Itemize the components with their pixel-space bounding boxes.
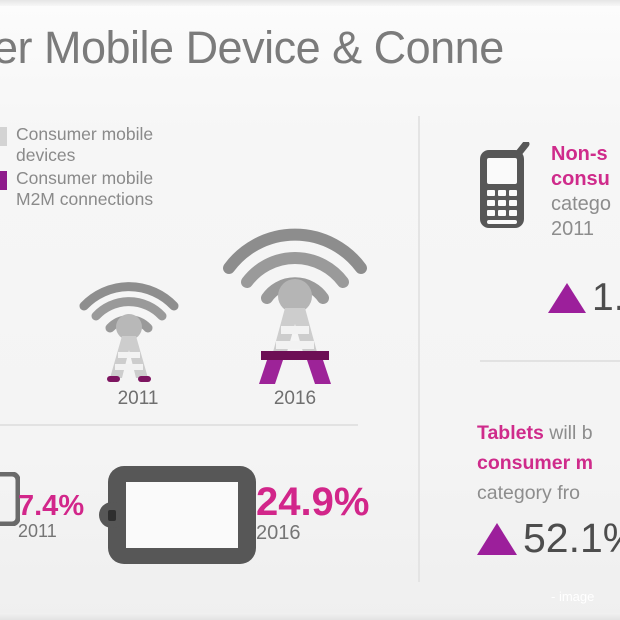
non-smartphone-line-2: consu xyxy=(551,167,620,192)
legend-swatch-devices-icon xyxy=(0,127,7,146)
watermark-text: - image xyxy=(551,589,594,604)
triangle-up-icon xyxy=(548,283,586,313)
tablet-large-icon xyxy=(96,462,260,573)
legend-item-devices: Consumer mobile devices xyxy=(0,124,228,166)
tablet-percent-2011: 7.4% xyxy=(18,492,84,521)
cell-tower-2011-icon xyxy=(70,250,188,390)
tablets-line-3: category fro xyxy=(477,478,620,508)
tablet-percent-2016: 24.9% xyxy=(256,482,369,522)
cell-tower-2016-icon xyxy=(215,194,375,390)
tablet-year-2016: 2016 xyxy=(256,522,369,545)
triangle-up-icon xyxy=(477,523,517,555)
vertical-divider xyxy=(418,116,420,582)
tower-year-label-2011: 2011 xyxy=(93,388,183,410)
bottom-edge-shadow xyxy=(0,613,620,620)
non-smartphone-line-4: 2011 xyxy=(551,217,620,242)
infographic-canvas: mer Mobile Device & Conne Consumer mobil… xyxy=(0,0,620,620)
non-smartphone-line-1: Non-s xyxy=(551,142,620,167)
tablet-comparison-row: 7.4% 2011 24.9% 2016 xyxy=(0,448,400,578)
non-smartphone-delta-value: 1. xyxy=(592,278,620,317)
non-smartphone-delta: 1. xyxy=(548,278,620,317)
tablets-line-2: consumer m xyxy=(477,448,620,478)
tablets-line-1: Tablets will b xyxy=(477,418,620,448)
tablet-stat-2016: 24.9% 2016 xyxy=(256,482,369,545)
legend-label-devices: Consumer mobile devices xyxy=(16,124,153,166)
tablet-year-2011: 2011 xyxy=(18,521,84,542)
tablet-stat-2011: 7.4% 2011 xyxy=(18,492,84,542)
non-smartphone-description: Non-s consu catego 2011 xyxy=(551,142,620,242)
tower-year-label-2016: 2016 xyxy=(250,388,340,410)
tablets-line-1-rest: will b xyxy=(544,422,593,444)
tablets-description: Tablets will b consumer m category fro xyxy=(477,418,620,508)
tablets-delta: 52.1% xyxy=(477,518,620,559)
tablet-small-icon xyxy=(0,472,20,531)
non-smartphone-line-3: catego xyxy=(551,192,620,217)
top-edge-shadow xyxy=(0,0,620,6)
tablets-delta-value: 52.1% xyxy=(523,518,620,559)
legend-swatch-m2m-icon xyxy=(0,171,7,190)
feature-phone-icon xyxy=(474,142,532,239)
page-title: mer Mobile Device & Conne xyxy=(0,22,620,74)
tablets-keyword: Tablets xyxy=(477,422,544,444)
horizontal-divider-right xyxy=(480,360,620,362)
